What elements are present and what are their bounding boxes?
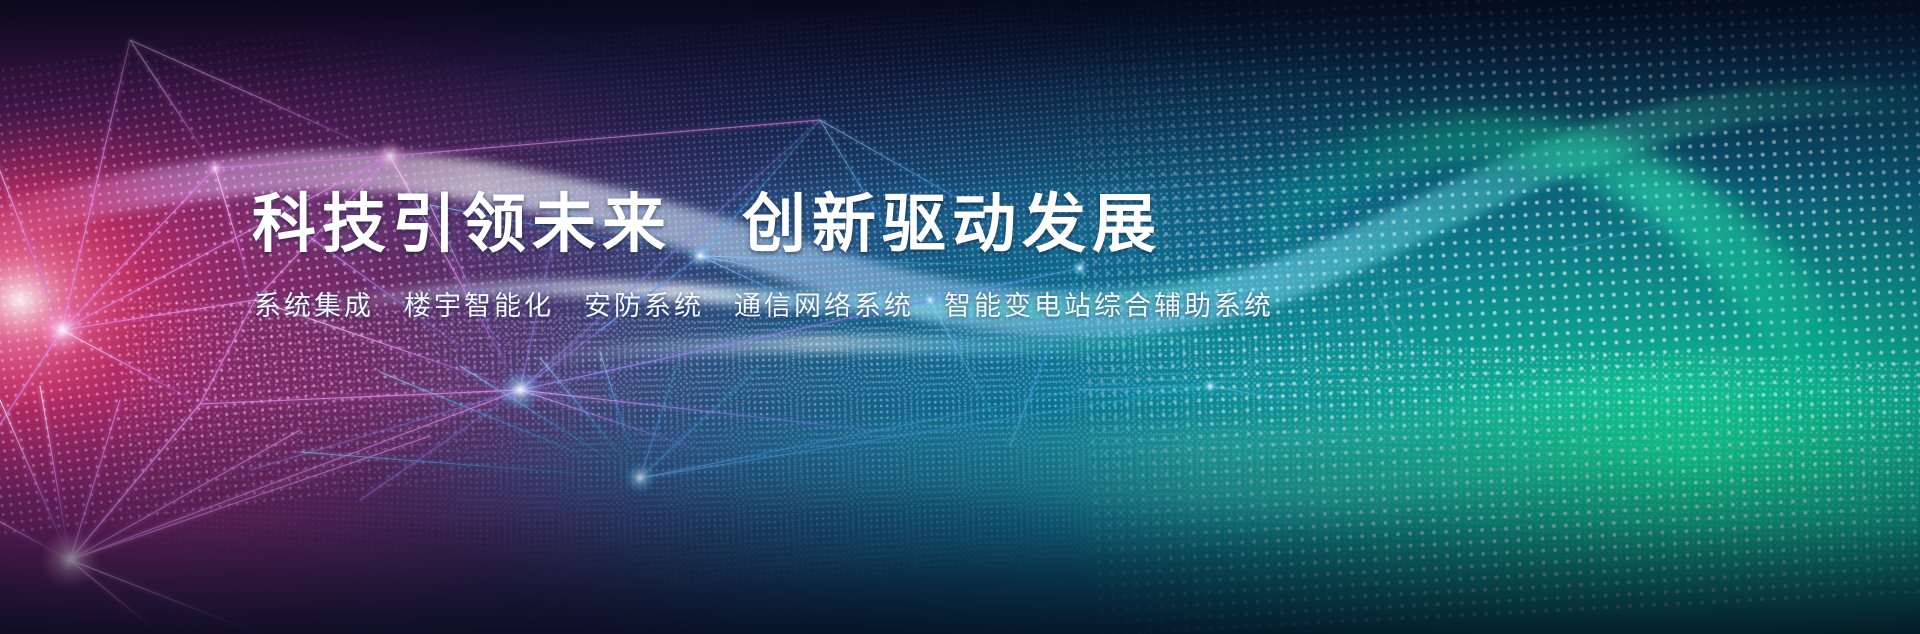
banner-subheadline: 系统集成 楼宇智能化 安防系统 通信网络系统 智能变电站综合辅助系统 xyxy=(254,288,1274,324)
technology-banner: 科技引领未来 创新驱动发展 系统集成 楼宇智能化 安防系统 通信网络系统 智能变… xyxy=(0,0,1920,634)
banner-headline: 科技引领未来 创新驱动发展 xyxy=(252,186,1162,262)
banner-content: 科技引领未来 创新驱动发展 系统集成 楼宇智能化 安防系统 通信网络系统 智能变… xyxy=(0,0,1920,634)
